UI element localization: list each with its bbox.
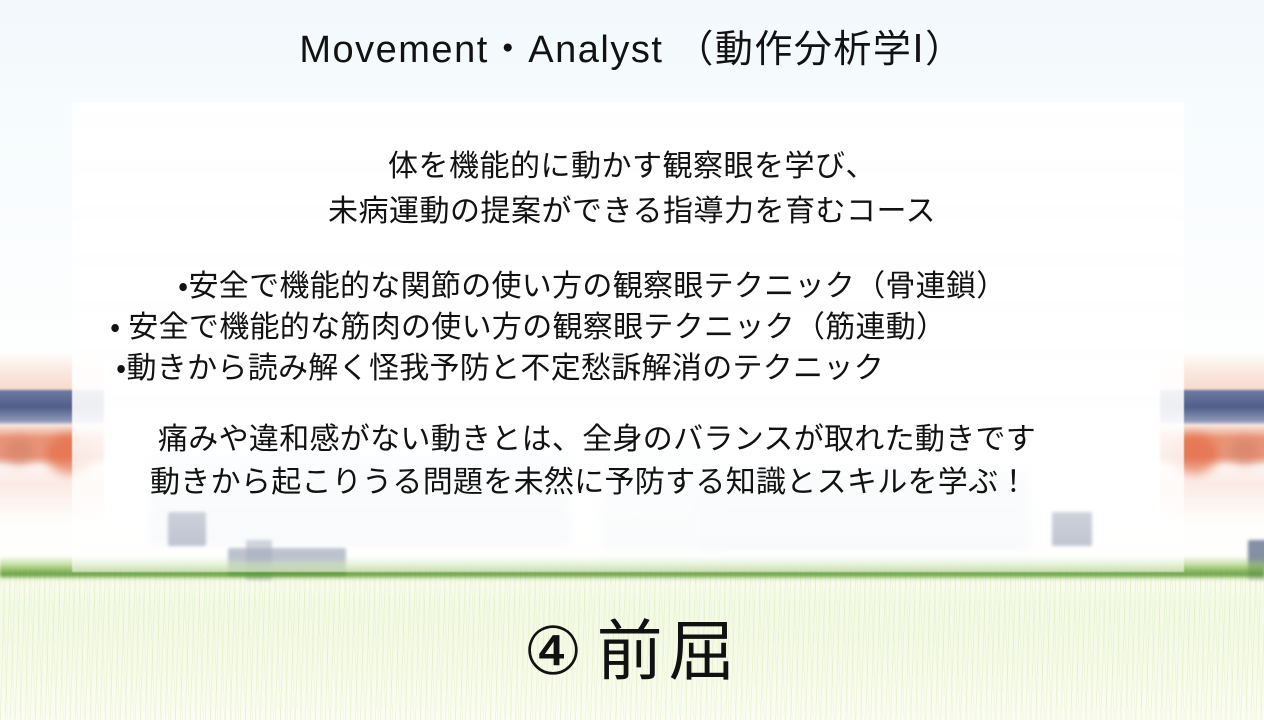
text-layer: Movement・Analyst （動作分析学Ⅰ） 体を機能的に動かす観察眼を学… <box>0 0 1264 720</box>
section-label: 前屈 <box>597 616 741 689</box>
bullet-list: ・安全で機能的な関節の使い方の観察眼テクニック（骨連鎖） ・ 安全で機能的な筋肉… <box>0 266 1264 389</box>
bullet-item-1: ・安全で機能的な関節の使い方の観察眼テクニック（骨連鎖） <box>0 266 1264 307</box>
lede-line-1: 体を機能的に動かす観察眼を学び、 <box>388 150 876 183</box>
closing-line-2: 動きから起こりうる問題を未然に予防する知識とスキルを学ぶ！ <box>0 461 1264 504</box>
section-heading: ④前屈 <box>0 612 1264 694</box>
closing-block: 痛みや違和感がない動きとは、全身のバランスが取れた動きです 動きから起こりうる問… <box>0 418 1264 504</box>
slide-canvas: Movement・Analyst （動作分析学Ⅰ） 体を機能的に動かす観察眼を学… <box>0 0 1264 720</box>
lede-line-2: 未病運動の提案ができる指導力を育むコース <box>328 195 936 228</box>
lede-block: 体を機能的に動かす観察眼を学び、 未病運動の提案ができる指導力を育むコース <box>0 144 1264 234</box>
slide-title: Movement・Analyst （動作分析学Ⅰ） <box>0 18 1264 73</box>
bullet-item-3: ・動きから読み解く怪我予防と不定愁訴解消のテクニック <box>0 348 1264 389</box>
bullet-item-2: ・ 安全で機能的な筋肉の使い方の観察眼テクニック（筋連動） <box>0 307 1264 348</box>
section-number: ④ <box>523 616 582 689</box>
closing-line-1: 痛みや違和感がない動きとは、全身のバランスが取れた動きです <box>0 418 1264 461</box>
